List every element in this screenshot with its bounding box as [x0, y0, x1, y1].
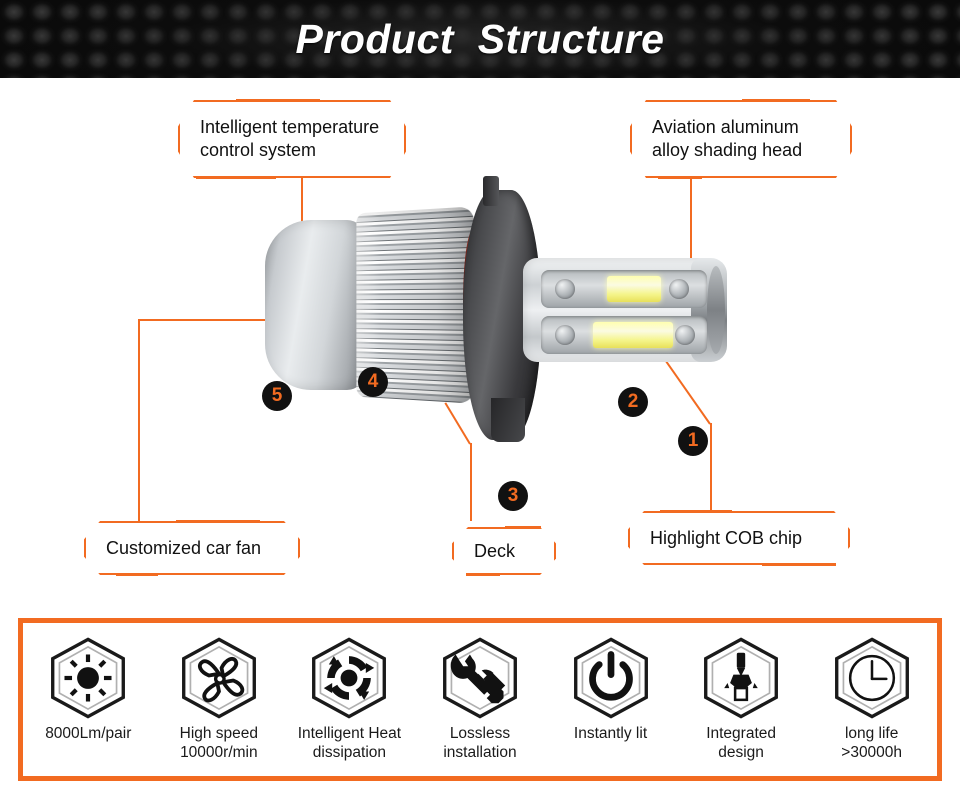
callout-deck[interactable]: Deck — [452, 527, 556, 575]
badge-1: 1 — [678, 426, 708, 456]
callout-accent-dash-bottom-3 — [466, 573, 500, 576]
feature-label: Instantly lit — [549, 724, 673, 743]
callout-accent-dash-top-2 — [742, 99, 810, 102]
feature-item-long-life[interactable]: long life >30000h — [810, 636, 934, 762]
fan-icon — [157, 636, 281, 720]
feature-label: Intelligent Heat dissipation — [287, 724, 411, 762]
feature-item-instantly-lit[interactable]: Instantly lit — [549, 636, 673, 743]
product-structure-infographic: Product Structure — [0, 0, 960, 797]
brightness-sun-icon — [26, 636, 150, 720]
feature-item-brightness[interactable]: 8000Lm/pair — [26, 636, 150, 743]
callout-label: Deck — [474, 540, 515, 563]
leader-line-fan-horizontal — [138, 319, 270, 321]
callout-accent-dash-bottom-1 — [196, 176, 276, 179]
callout-label: Customized car fan — [106, 537, 261, 560]
features-panel: 8000Lm/pair High speed 10000r/min — [18, 618, 942, 781]
feature-label: Lossless installation — [418, 724, 542, 762]
led-headlight-bulb-image — [255, 198, 735, 518]
callout-accent-dash-bottom-1b — [762, 563, 836, 566]
feature-item-fan-speed[interactable]: High speed 10000r/min — [157, 636, 281, 762]
callout-aviation-aluminum-alloy-shading-head[interactable]: Aviation aluminum alloy shading head — [630, 100, 852, 178]
feature-label: Integrated design — [679, 724, 803, 762]
callout-accent-dash-top-5 — [176, 520, 260, 523]
cob-chip-top — [607, 276, 661, 302]
callout-accent-dash-top-3 — [505, 526, 541, 529]
fan-housing-part — [265, 220, 365, 390]
callout-accent-dash-bottom-2 — [658, 176, 702, 179]
feature-item-integrated-design[interactable]: Integrated design — [679, 636, 803, 762]
page-title: Product Structure — [0, 0, 960, 78]
clock-icon — [810, 636, 934, 720]
callout-accent-dash-top-1 — [236, 99, 320, 102]
leader-line-fan-vertical — [138, 319, 140, 527]
feature-label: High speed 10000r/min — [157, 724, 281, 762]
callout-label: Highlight COB chip — [650, 527, 802, 550]
wrench-icon — [418, 636, 542, 720]
deck-tab-part — [483, 176, 499, 206]
badge-3: 3 — [498, 481, 528, 511]
feature-label: long life >30000h — [810, 724, 934, 762]
screw-top-left — [555, 279, 575, 299]
deck-notch-part — [491, 398, 525, 442]
diagram-area: 1 2 3 4 5 Intelligent temperature contro… — [0, 78, 960, 608]
badge-5: 5 — [262, 381, 292, 411]
callout-highlight-cob-chip[interactable]: Highlight COB chip — [628, 511, 850, 565]
power-icon — [549, 636, 673, 720]
heat-dissipation-icon — [287, 636, 411, 720]
aluminum-cap-face-part — [707, 266, 725, 354]
led-bulb-icon — [679, 636, 803, 720]
feature-label: 8000Lm/pair — [26, 724, 150, 743]
screw-bottom-left — [555, 325, 575, 345]
callout-customized-car-fan[interactable]: Customized car fan — [84, 521, 300, 575]
callout-accent-dash-bottom-5 — [116, 573, 158, 576]
cob-chip-bottom — [593, 322, 673, 348]
screw-top-right — [669, 279, 689, 299]
badge-4: 4 — [358, 367, 388, 397]
callout-label: Aviation aluminum alloy shading head — [652, 116, 802, 162]
feature-item-heat-dissipation[interactable]: Intelligent Heat dissipation — [287, 636, 411, 762]
badge-2: 2 — [618, 387, 648, 417]
header-banner: Product Structure — [0, 0, 960, 78]
screw-bottom-right — [675, 325, 695, 345]
feature-item-lossless-installation[interactable]: Lossless installation — [418, 636, 542, 762]
callout-label: Intelligent temperature control system — [200, 116, 379, 162]
callout-intelligent-temperature-control[interactable]: Intelligent temperature control system — [178, 100, 406, 178]
